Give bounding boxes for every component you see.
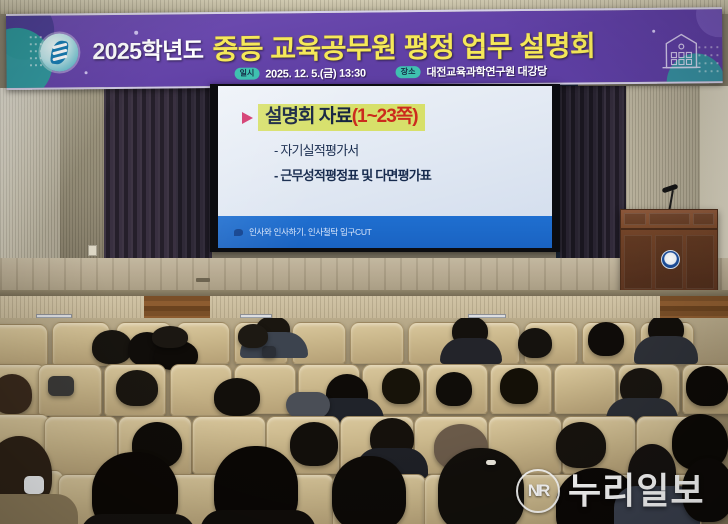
attendee-body [440,338,502,364]
attendee-head [556,422,606,468]
footer-bullet-icon [234,229,243,236]
school-building-icon [658,31,704,71]
datetime-value: 2025. 12. 5.(금) 13:30 [265,65,366,82]
banner-sparkle [85,71,88,74]
attendee-head [500,368,538,404]
leaf-emblem-icon [40,33,78,71]
attendee-body [634,336,698,364]
institution-seal-icon [661,250,680,269]
conference-photo: 2025학년도 중등 교육공무원 평정 업무 설명회 일시 2025. 12. … [0,0,728,524]
banner-main-title: 중등 교육공무원 평정 업무 설명회 [212,24,595,68]
audience-seating-area [0,318,728,524]
stage-wall-left [0,88,62,284]
place-chip: 장소 [396,66,421,79]
attendee-head [116,370,158,406]
attendee-head [682,458,728,522]
attendee-head [436,372,472,406]
attendee-head [588,322,624,356]
attendee-body [80,514,196,524]
auditorium-seat [350,322,404,364]
face-mask [24,476,44,494]
hair-clip [486,460,496,465]
attendee-head [238,324,268,348]
slide-bullet-2: - 근무성적평정표 및 다면평가표 [274,165,431,184]
banner-subtitle-row: 일시 2025. 12. 5.(금) 13:30 장소 대전교육과학연구원 대강… [235,63,548,82]
attendee-phone [262,346,276,358]
banner-sparkle [652,30,655,33]
attendee-head [382,368,420,404]
slide-body: 설명회 자료(1~23쪽) - 자기실적평가서 - 근무성적평정표 및 다면평가… [218,86,552,216]
auditorium-seat [0,324,48,368]
attendee-head [332,456,406,524]
datetime-chip: 일시 [235,67,260,80]
arrow-bullet-icon [242,112,253,124]
attendee-head [92,330,132,364]
attendee-head [686,366,728,406]
attendee-head [438,448,524,524]
banner-title-row: 2025학년도 중등 교육공무원 평정 업무 설명회 [92,26,652,67]
banner-year-label: 2025학년도 [92,31,203,66]
slide-footer-text: 인사와 인사하기, 인사철탁 입구CUT [249,226,372,238]
attendee-head [214,378,260,416]
place-value: 대전교육과학연구원 대강당 [426,63,547,80]
attendee-head [518,328,552,358]
slide-footer: 인사와 인사하기, 인사철탁 입구CUT [218,216,552,248]
slide-heading-pages: (1~23쪽) [352,106,418,127]
slide-heading-text: 설명회 자료 [265,106,352,127]
wall-outlet [88,245,97,256]
attendee-body [200,510,316,524]
attendee-head [152,326,188,348]
stage-curtain-left-inner [176,86,212,286]
projection-screen: 설명회 자료(1~23쪽) - 자기실적평가서 - 근무성적평정표 및 다면평가… [218,86,552,248]
attendee-scarf [286,392,330,418]
slide-heading: 설명회 자료(1~23쪽) [258,104,425,131]
attendee-bag [48,376,74,396]
auditorium-seat [554,364,616,414]
slide-bullet-1: - 자기실적평가서 [274,140,358,159]
stage-curtain-left [104,86,178,286]
stage-floor [0,258,728,294]
podium-top-panels [621,210,717,230]
stage-curtain-right [560,86,610,286]
floor-vent [196,278,210,282]
attendee-head [290,422,338,466]
event-banner: 2025학년도 중등 교육공무원 평정 업무 설명회 일시 2025. 12. … [6,7,723,90]
attendee-body [0,494,78,524]
wooden-podium [620,209,718,293]
attendee-head [0,374,32,414]
